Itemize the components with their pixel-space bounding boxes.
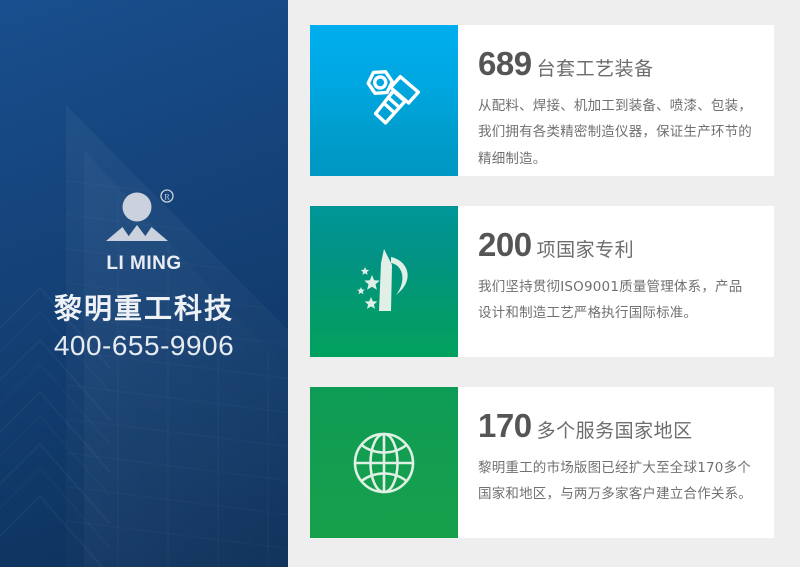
stat-description: 黎明重工的市场版图已经扩大至全球170多个国家和地区，与两万多家客户建立合作关系… [478,455,752,508]
bolt-and-nut-icon [341,58,427,144]
svg-text:R: R [164,193,170,202]
stat-number: 170 [478,407,532,444]
company-stats-banner: R LI MING 黎明重工科技 400-655-9906 [0,0,800,567]
stat-unit: 项国家专利 [537,239,635,261]
stat-unit: 台套工艺装备 [537,58,654,80]
stat-number: 200 [478,226,532,263]
stat-card-patents[interactable]: 200项国家专利 我们坚持贯彻ISO9001质量管理体系，产品设计和制造工艺严格… [310,206,774,357]
card-icon-tile [310,25,458,176]
stat-description: 从配料、焊接、机加工到装备、喷漆、包装，我们拥有各类精密制造仪器，保证生产环节的… [478,93,752,172]
globe-icon [344,423,424,503]
card-icon-tile [310,387,458,538]
card-heading: 200项国家专利 [478,228,752,261]
brand-wordmark: LI MING [0,254,288,273]
patent-monument-stars-icon [339,237,429,327]
stat-unit: 多个服务国家地区 [537,420,693,442]
stat-card-countries[interactable]: 170多个服务国家地区 黎明重工的市场版图已经扩大至全球170多个国家和地区，与… [310,387,774,538]
card-text: 200项国家专利 我们坚持贯彻ISO9001质量管理体系，产品设计和制造工艺严格… [458,206,774,357]
liming-triangle-logo-icon: R [101,188,187,250]
card-heading: 170多个服务国家地区 [478,409,752,442]
card-heading: 689台套工艺装备 [478,47,752,80]
brand-panel: R LI MING 黎明重工科技 400-655-9906 [0,0,288,567]
stat-description: 我们坚持贯彻ISO9001质量管理体系，产品设计和制造工艺严格执行国际标准。 [478,274,752,327]
card-icon-tile [310,206,458,357]
hotline-number: 400-655-9906 [0,328,288,364]
stats-card-list: 689台套工艺装备 从配料、焊接、机加工到装备、喷漆、包装，我们拥有各类精密制造… [310,25,774,538]
stat-card-equipment[interactable]: 689台套工艺装备 从配料、焊接、机加工到装备、喷漆、包装，我们拥有各类精密制造… [310,25,774,176]
card-text: 689台套工艺装备 从配料、焊接、机加工到装备、喷漆、包装，我们拥有各类精密制造… [458,25,774,176]
stat-number: 689 [478,45,532,82]
brand-content: R LI MING 黎明重工科技 400-655-9906 [0,188,288,364]
company-name-cn: 黎明重工科技 [0,291,288,326]
card-text: 170多个服务国家地区 黎明重工的市场版图已经扩大至全球170多个国家和地区，与… [458,387,774,538]
